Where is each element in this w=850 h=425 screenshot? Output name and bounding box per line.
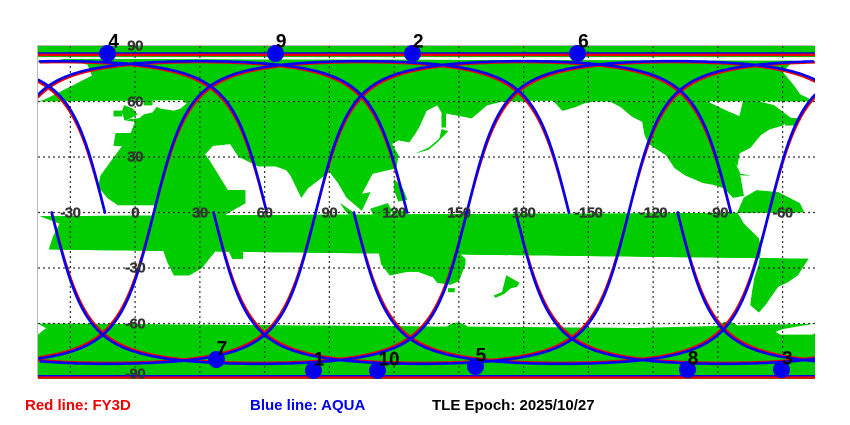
satellite-marker-10[interactable]: 10 [369, 362, 386, 379]
lat-tick-30: 30 [127, 149, 143, 166]
lat-tick--30: -30 [125, 260, 145, 277]
legend-tle-epoch: TLE Epoch: 2025/10/27 [432, 396, 595, 416]
lon-tick--60: -60 [773, 204, 793, 221]
satellite-label-10: 10 [378, 350, 399, 369]
lat-tick--60: -60 [125, 315, 145, 332]
satellite-label-7: 7 [217, 339, 228, 358]
satellite-ground-track-page: 9060300-30-60-90 -300306090120150180-150… [0, 0, 850, 425]
lon-tick--150: -150 [574, 204, 602, 221]
satellite-marker-7[interactable]: 7 [208, 351, 225, 368]
satellite-label-8: 8 [688, 349, 699, 368]
legend-red-line: Red line: FY3D [25, 396, 131, 416]
world-map: 9060300-30-60-90 -300306090120150180-150… [37, 45, 814, 378]
lon-tick--30: -30 [60, 204, 80, 221]
lon-tick-60: 60 [257, 204, 273, 221]
satellite-label-9: 9 [276, 33, 287, 52]
satellite-marker-2[interactable]: 2 [404, 45, 421, 62]
satellite-marker-8[interactable]: 8 [679, 361, 696, 378]
lon-tick-120: 120 [382, 204, 406, 221]
satellite-marker-1[interactable]: 1 [305, 362, 322, 379]
lon-tick--90: -90 [708, 204, 728, 221]
lon-tick-30: 30 [192, 204, 208, 221]
lat-tick-90: 90 [127, 38, 143, 55]
satellite-marker-4[interactable]: 4 [99, 45, 116, 62]
lon-tick--120: -120 [639, 204, 667, 221]
lat-tick--90: -90 [125, 366, 145, 383]
satellite-label-5: 5 [476, 346, 487, 365]
satellite-label-6: 6 [578, 33, 589, 52]
lat-tick-60: 60 [127, 93, 143, 110]
satellite-marker-9[interactable]: 9 [267, 45, 284, 62]
satellite-label-1: 1 [314, 350, 325, 369]
lon-tick-180: 180 [512, 204, 536, 221]
satellite-marker-6[interactable]: 6 [569, 45, 586, 62]
lon-tick-90: 90 [322, 204, 338, 221]
satellite-marker-3[interactable]: 3 [773, 361, 790, 378]
satellite-label-4: 4 [108, 33, 119, 52]
satellite-label-2: 2 [413, 33, 424, 52]
lon-tick-0: 0 [131, 204, 139, 221]
map-canvas [38, 46, 815, 379]
satellite-label-3: 3 [782, 349, 793, 368]
legend-blue-line: Blue line: AQUA [250, 396, 365, 416]
satellite-marker-5[interactable]: 5 [467, 358, 484, 375]
legend: Red line: FY3D Blue line: AQUA TLE Epoch… [0, 396, 850, 422]
lon-tick-150: 150 [447, 204, 471, 221]
